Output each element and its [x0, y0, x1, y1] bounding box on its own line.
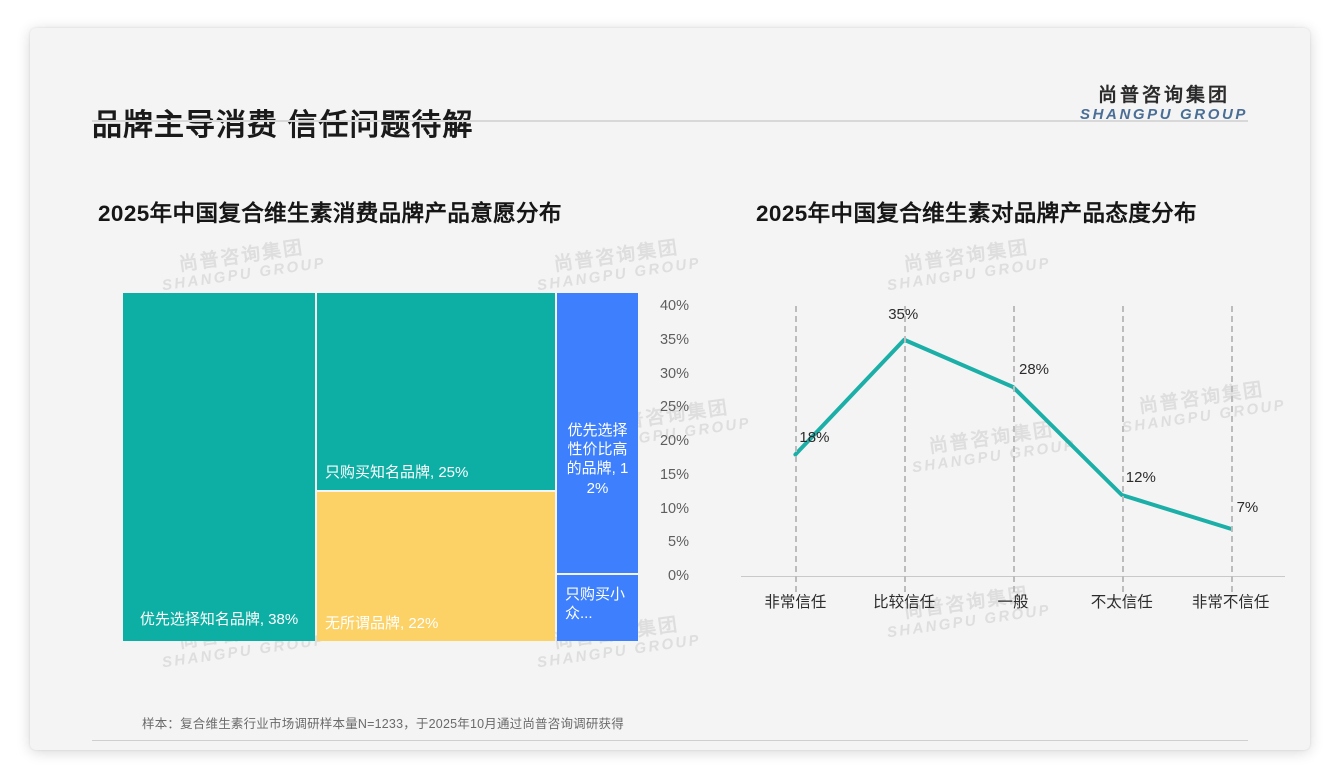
- logo-chinese-text: 尚普咨询集团: [1080, 86, 1248, 106]
- y-axis-tick-label: 15%: [633, 467, 689, 483]
- treemap-chart: 优先选择知名品牌, 38%只购买知名品牌, 25%无所谓品牌, 22%优先选择性…: [123, 293, 638, 641]
- watermark-chinese: 尚普咨询集团: [158, 235, 325, 279]
- slide-card: 品牌主导消费 信任问题待解 尚普咨询集团 SHANGPU GROUP 2025年…: [30, 28, 1310, 750]
- right-chart-title: 2025年中国复合维生素对品牌产品态度分布: [756, 196, 1197, 228]
- treemap-cell-label: 优先选择知名品牌, 38%: [127, 610, 311, 629]
- vertical-gridline: [1013, 306, 1015, 592]
- watermark-chinese: 尚普咨询集团: [883, 235, 1050, 279]
- logo-english-text: SHANGPU GROUP: [1080, 107, 1248, 123]
- slide-header: 品牌主导消费 信任问题待解 尚普咨询集团 SHANGPU GROUP: [30, 28, 1310, 124]
- vertical-gridline: [1122, 306, 1124, 592]
- treemap-cell[interactable]: 优先选择性价比高的品牌, 12%: [557, 293, 638, 573]
- line-chart: 0%5%10%15%20%25%30%35%40%非常信任比较信任一般不太信任非…: [685, 290, 1285, 620]
- treemap-cell-label: 只购买小众...: [565, 585, 632, 633]
- vertical-gridline: [1231, 306, 1233, 592]
- x-axis-tick-label: 不太信任: [1091, 590, 1153, 612]
- treemap-cell-label: 优先选择性价比高的品牌, 12%: [561, 421, 634, 565]
- header-divider: [92, 120, 1248, 122]
- treemap-cell[interactable]: 优先选择知名品牌, 38%: [123, 293, 315, 641]
- x-axis-tick-label: 比较信任: [873, 590, 935, 612]
- y-axis-tick-label: 25%: [633, 399, 689, 415]
- treemap-cell-label: 只购买知名品牌, 25%: [325, 463, 549, 482]
- watermark-3: 尚普咨询集团SHANGPU GROUP: [883, 235, 1052, 296]
- data-point-label: 7%: [1237, 499, 1259, 516]
- y-axis-tick-label: 10%: [633, 501, 689, 517]
- page-title: 品牌主导消费 信任问题待解: [92, 100, 473, 144]
- watermark-english: SHANGPU GROUP: [536, 256, 702, 296]
- x-axis-tick-label: 一般: [997, 590, 1028, 612]
- treemap-cell[interactable]: 无所谓品牌, 22%: [317, 492, 555, 641]
- watermark-chinese: 尚普咨询集团: [533, 235, 700, 279]
- y-axis-tick-label: 35%: [633, 332, 689, 348]
- watermark-english: SHANGPU GROUP: [161, 256, 327, 296]
- data-point-label: 18%: [799, 429, 829, 446]
- x-axis-tick-label: 非常不信任: [1192, 590, 1270, 612]
- vertical-gridline: [904, 306, 906, 592]
- y-axis-tick-label: 0%: [633, 568, 689, 584]
- left-chart-title: 2025年中国复合维生素消费品牌产品意愿分布: [98, 196, 562, 228]
- watermark-1: 尚普咨询集团SHANGPU GROUP: [158, 235, 327, 296]
- watermark-2: 尚普咨询集团SHANGPU GROUP: [533, 235, 702, 296]
- data-point-label: 28%: [1019, 361, 1049, 378]
- data-point-label: 12%: [1126, 469, 1156, 486]
- treemap-cell[interactable]: 只购买知名品牌, 25%: [317, 293, 555, 490]
- treemap-cell[interactable]: 只购买小众...: [557, 575, 638, 641]
- y-axis-tick-label: 30%: [633, 366, 689, 382]
- y-axis-tick-label: 20%: [633, 433, 689, 449]
- data-point-label: 35%: [888, 306, 918, 323]
- sample-footnote: 样本：复合维生素行业市场调研样本量N=1233，于2025年10月通过尚普咨询调…: [142, 713, 624, 732]
- treemap-cell-label: 无所谓品牌, 22%: [325, 614, 549, 633]
- vertical-gridline: [795, 306, 797, 592]
- x-axis-tick-label: 非常信任: [764, 590, 826, 612]
- y-axis-tick-label: 40%: [633, 298, 689, 314]
- footer-divider: [92, 740, 1248, 741]
- brand-logo: 尚普咨询集团 SHANGPU GROUP: [1080, 86, 1248, 123]
- y-axis-tick-label: 5%: [633, 534, 689, 550]
